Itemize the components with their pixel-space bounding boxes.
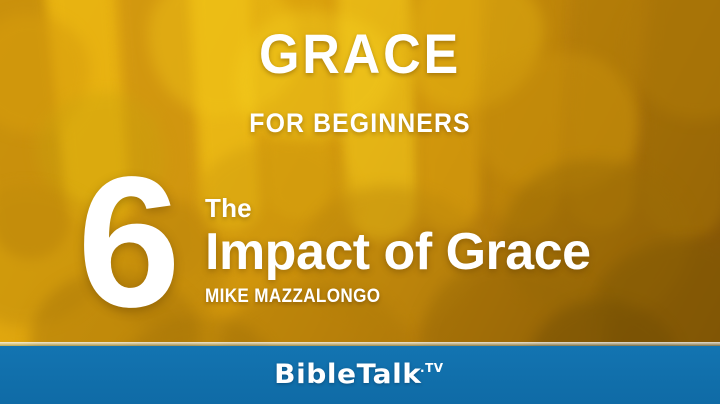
lesson-title: Impact of Grace <box>205 224 696 280</box>
lesson-title-prefix: The <box>205 194 696 222</box>
lesson-speaker-name: MIKE MAZZALONGO <box>205 286 647 308</box>
series-subtitle: FOR BEGINNERS <box>29 108 691 138</box>
brand-suffix-text: .TV <box>420 361 444 375</box>
series-title: GRACE <box>25 24 695 84</box>
bibletalk-tv-logo: BibleTalk.TV <box>0 346 720 404</box>
lesson-text-block: The Impact of Grace MIKE MAZZALONGO <box>205 194 696 308</box>
brand-bar: BibleTalk.TV <box>0 346 720 404</box>
lesson-number: 6 <box>72 150 182 336</box>
video-title-card: GRACE FOR BEGINNERS 6 The Impact of Grac… <box>0 0 720 404</box>
brand-name-text: BibleTalk <box>275 361 422 389</box>
